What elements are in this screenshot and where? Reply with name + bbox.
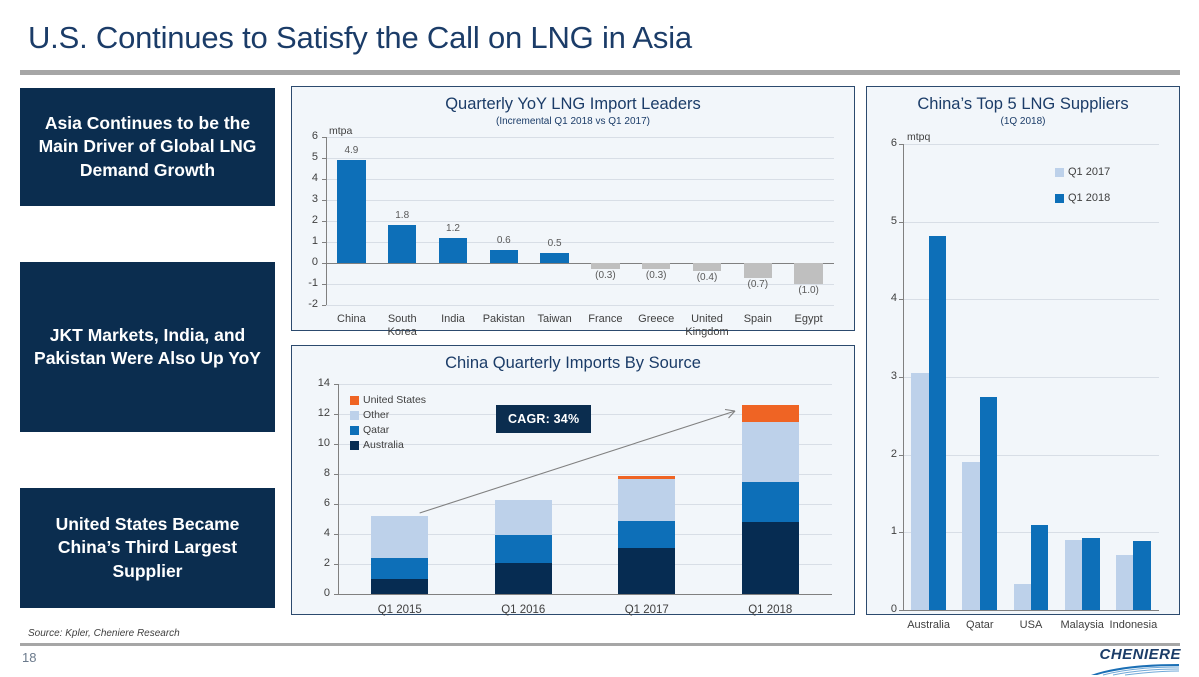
x-tick-label: China xyxy=(326,313,377,326)
x-tick-label: Q1 2017 xyxy=(585,604,709,617)
y-tick-label: 2 xyxy=(306,557,330,569)
gridline xyxy=(326,200,834,201)
plot-area-china-imports: 14121086420Q1 2015Q1 2016Q1 2017Q1 2018U… xyxy=(292,346,856,616)
y-tick-label: 2 xyxy=(873,448,897,460)
bar-q1-2017 xyxy=(1014,584,1031,610)
x-tick-label: Indonesia xyxy=(1104,619,1163,632)
bar-segment-australia xyxy=(495,563,552,595)
legend-swatch-other xyxy=(350,411,359,420)
bar-value-label: 1.8 xyxy=(376,210,428,221)
x-tick-label: France xyxy=(580,313,631,326)
bar xyxy=(337,160,365,263)
y-axis xyxy=(338,384,339,594)
chart-legend: Q1 2017Q1 2018 xyxy=(1055,166,1110,218)
x-tick-label: South Korea xyxy=(377,313,428,338)
gridline xyxy=(326,179,834,180)
legend-label: Q1 2017 xyxy=(1068,166,1110,178)
x-axis xyxy=(338,594,832,595)
bar-segment-united-states xyxy=(618,476,675,480)
bar-q1-2017 xyxy=(1065,540,1082,610)
x-tick-label: Q1 2016 xyxy=(462,604,586,617)
bar-q1-2018 xyxy=(1031,525,1048,610)
bar-value-label: 0.6 xyxy=(478,235,530,246)
x-axis xyxy=(903,610,1159,611)
y-tick-label: 4 xyxy=(294,172,318,184)
page-number: 18 xyxy=(22,650,36,665)
bar xyxy=(642,263,670,269)
logo-wave-icon xyxy=(1089,664,1181,677)
bar-value-label: 0.5 xyxy=(529,238,581,249)
plot-area-import-leaders: mtpa6543210-1-24.9China1.8South Korea1.2… xyxy=(292,87,856,332)
y-tick-label: 5 xyxy=(294,151,318,163)
y-axis xyxy=(326,137,327,305)
bar-segment-qatar xyxy=(371,558,428,579)
chart-panel-import-leaders: Quarterly YoY LNG Import Leaders (Increm… xyxy=(291,86,855,331)
bar xyxy=(540,253,568,264)
callout-box-asia-demand: Asia Continues to be the Main Driver of … xyxy=(20,88,275,206)
bar-segment-other xyxy=(742,422,799,482)
bar-q1-2018 xyxy=(929,236,946,610)
y-tick-label: 0 xyxy=(294,256,318,268)
legend-swatch-q1-2017 xyxy=(1055,168,1064,177)
bar-segment-australia xyxy=(371,579,428,594)
legend-item: United States xyxy=(350,394,426,406)
bar-q1-2018 xyxy=(1133,541,1150,610)
bar-segment-united-states xyxy=(742,405,799,422)
title-divider xyxy=(20,70,1180,75)
gridline xyxy=(326,158,834,159)
y-tick-label: 4 xyxy=(306,527,330,539)
y-tick-label: 3 xyxy=(294,193,318,205)
x-tick-label: Pakistan xyxy=(478,313,529,326)
callout-box-jkt-markets: JKT Markets, India, and Pakistan Were Al… xyxy=(20,262,275,432)
bar-q1-2018 xyxy=(980,397,997,610)
bar xyxy=(439,238,467,263)
bar-value-label: (0.3) xyxy=(579,270,631,281)
bar-value-label: (0.4) xyxy=(681,272,733,283)
bar-segment-australia xyxy=(742,522,799,594)
bar-q1-2018 xyxy=(1082,538,1099,610)
legend-label: United States xyxy=(363,394,426,406)
y-tick-label: -2 xyxy=(294,298,318,310)
bar-segment-qatar xyxy=(495,535,552,563)
bar-segment-australia xyxy=(618,548,675,594)
bar xyxy=(744,263,772,278)
legend-label: Qatar xyxy=(363,424,389,436)
y-axis xyxy=(903,144,904,610)
x-tick-label: Q1 2015 xyxy=(338,604,462,617)
x-tick-label: Spain xyxy=(732,313,783,326)
y-tick-label: 0 xyxy=(306,587,330,599)
bar-value-label: 1.2 xyxy=(427,223,479,234)
y-tick-label: 5 xyxy=(873,215,897,227)
gridline xyxy=(326,305,834,306)
x-tick-label: Egypt xyxy=(783,313,834,326)
x-tick-label: India xyxy=(428,313,479,326)
bar xyxy=(693,263,721,271)
legend-swatch-united-states xyxy=(350,396,359,405)
legend-swatch-q1-2018 xyxy=(1055,194,1064,203)
legend-item: Australia xyxy=(350,439,426,451)
x-tick-label: Taiwan xyxy=(529,313,580,326)
legend-label: Australia xyxy=(363,439,404,451)
footer-divider xyxy=(20,643,1180,646)
y-tick-label: 6 xyxy=(306,497,330,509)
bar xyxy=(388,225,416,263)
x-tick-label: Greece xyxy=(631,313,682,326)
gridline xyxy=(326,137,834,138)
bar xyxy=(591,263,619,269)
legend-label: Q1 2018 xyxy=(1068,192,1110,204)
page-title: U.S. Continues to Satisfy the Call on LN… xyxy=(28,20,692,56)
bar-q1-2017 xyxy=(962,462,979,610)
bar-value-label: (1.0) xyxy=(783,285,835,296)
gridline xyxy=(338,384,832,385)
bar-value-label: (0.7) xyxy=(732,279,784,290)
chart-panel-china-imports: China Quarterly Imports By Source 141210… xyxy=(291,345,855,615)
gridline xyxy=(903,144,1159,145)
bar-value-label: (0.3) xyxy=(630,270,682,281)
cagr-annotation: CAGR: 34% xyxy=(496,405,591,433)
y-tick-label: 2 xyxy=(294,214,318,226)
bar-value-label: 4.9 xyxy=(325,145,377,156)
callout-box-us-supplier: United States Became China’s Third Large… xyxy=(20,488,275,608)
y-tick-label: 0 xyxy=(873,603,897,615)
bar-segment-qatar xyxy=(618,521,675,549)
y-tick-label: 1 xyxy=(873,525,897,537)
axis-unit-label-mtpa: mtpa xyxy=(329,125,352,137)
bar-segment-qatar xyxy=(742,482,799,523)
logo-wordmark: CHENIERE xyxy=(1089,646,1181,663)
y-tick-label: 4 xyxy=(873,292,897,304)
legend-item: Qatar xyxy=(350,424,426,436)
source-note: Source: Kpler, Cheniere Research xyxy=(28,628,180,639)
bar-q1-2017 xyxy=(911,373,928,610)
y-tick xyxy=(322,305,326,306)
bar-segment-other xyxy=(618,479,675,520)
bar-segment-other xyxy=(371,516,428,558)
y-tick-label: 6 xyxy=(294,130,318,142)
gridline xyxy=(903,222,1159,223)
legend-swatch-australia xyxy=(350,441,359,450)
chart-panel-top5-suppliers: China’s Top 5 LNG Suppliers (1Q 2018) mt… xyxy=(866,86,1180,615)
y-tick-label: 14 xyxy=(306,377,330,389)
cheniere-logo: CHENIERE xyxy=(1089,646,1181,677)
y-tick-label: -1 xyxy=(294,277,318,289)
legend-swatch-qatar xyxy=(350,426,359,435)
bar xyxy=(490,250,518,263)
y-tick-label: 10 xyxy=(306,437,330,449)
bar xyxy=(794,263,822,284)
axis-unit-label-mtpq: mtpq xyxy=(907,131,930,143)
legend-item: Q1 2018 xyxy=(1055,192,1110,204)
plot-area-top5-suppliers: mtpq6543210AustraliaQatarUSAMalaysiaIndo… xyxy=(867,87,1181,616)
x-tick-label: United Kingdom xyxy=(682,313,733,338)
legend-item: Other xyxy=(350,409,426,421)
y-tick-label: 8 xyxy=(306,467,330,479)
bar-segment-other xyxy=(495,500,552,535)
y-tick-label: 3 xyxy=(873,370,897,382)
y-tick-label: 1 xyxy=(294,235,318,247)
x-tick-label: Q1 2018 xyxy=(709,604,833,617)
y-tick-label: 6 xyxy=(873,137,897,149)
bar-q1-2017 xyxy=(1116,555,1133,610)
legend-item: Q1 2017 xyxy=(1055,166,1110,178)
legend-label: Other xyxy=(363,409,389,421)
chart-legend: United StatesOtherQatarAustralia xyxy=(350,394,426,454)
y-tick-label: 12 xyxy=(306,407,330,419)
